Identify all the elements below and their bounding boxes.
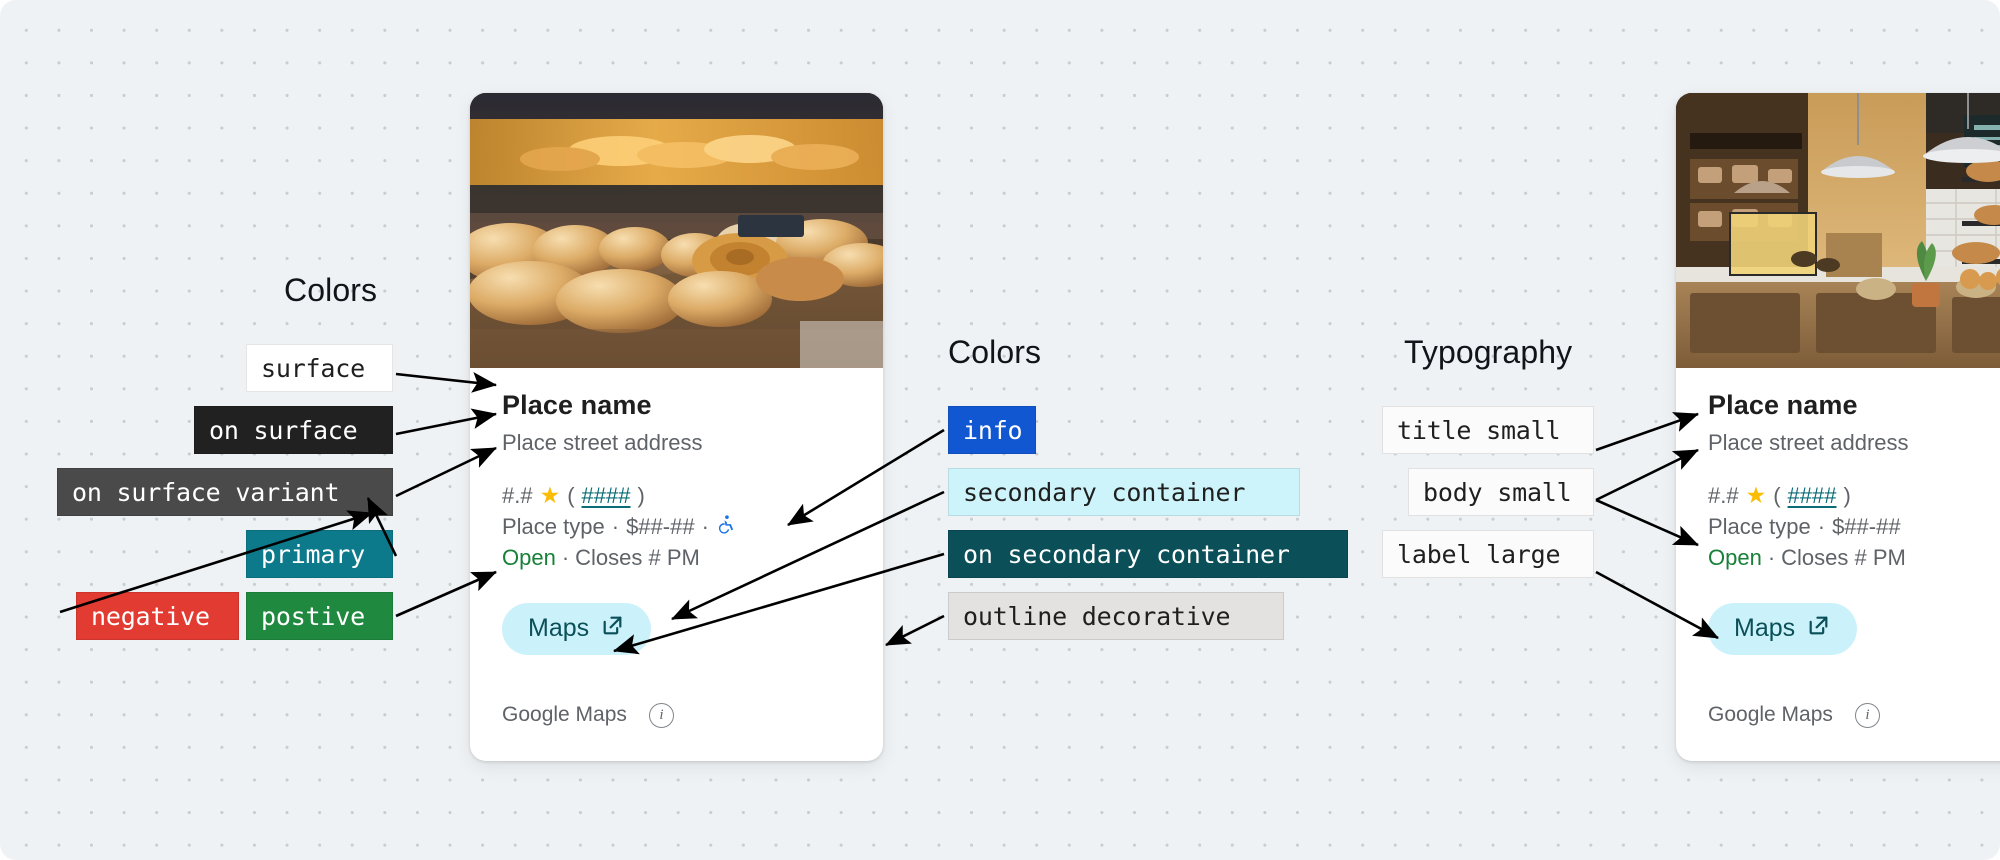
type-price-row-right: Place type · $##-##	[1708, 514, 2000, 540]
wheelchair-icon	[716, 514, 737, 539]
separator-dot-1-right: ·	[1818, 514, 1825, 540]
swatch-title-small[interactable]: title small	[1382, 406, 1594, 454]
hours-separator-right: ·	[1768, 545, 1775, 570]
paren-close-right: )	[1844, 483, 1851, 509]
closing-time: Closes # PM	[575, 545, 700, 570]
swatch-label-large[interactable]: label large	[1382, 530, 1594, 578]
open-in-new-glyph-right	[1806, 613, 1831, 638]
review-count-link-right[interactable]: ####	[1788, 483, 1837, 509]
swatch-outline-decorative-label: outline decorative	[963, 602, 1230, 631]
place-card-center-body: Place name Place street address #.# ★ (#…	[470, 390, 883, 728]
swatch-label-large-label: label large	[1397, 540, 1560, 569]
swatch-postive-label: postive	[261, 602, 365, 631]
arrow-outline-decorative-to-card-edge	[886, 616, 944, 645]
open-in-new-icon	[600, 613, 625, 645]
swatch-on-secondary-container[interactable]: on secondary container	[948, 530, 1348, 578]
swatch-primary[interactable]: primary	[246, 530, 393, 578]
colors-left-group-title: Colors	[284, 272, 377, 309]
swatch-outline-decorative[interactable]: outline decorative	[948, 592, 1284, 640]
hours-separator: ·	[562, 545, 569, 570]
swatch-on-surface[interactable]: on surface	[194, 406, 393, 454]
place-type: Place type	[502, 514, 605, 540]
place-type-right: Place type	[1708, 514, 1811, 540]
place-name-right: Place name	[1708, 390, 2000, 422]
rating-value-right: #.#	[1708, 483, 1739, 509]
paren-open-right: (	[1773, 483, 1780, 509]
swatch-on-secondary-container-label: on secondary container	[963, 540, 1290, 569]
open-status: Open	[502, 545, 556, 570]
open-in-new-icon-right	[1806, 613, 1831, 645]
maps-button-label-right: Maps	[1734, 614, 1795, 643]
swatch-on-surface-variant[interactable]: on surface variant	[57, 468, 393, 516]
attribution-label: Google Maps	[502, 703, 627, 727]
swatch-on-surface-variant-label: on surface variant	[72, 478, 339, 507]
annotated-design-canvas: Colors surface on surface on surface var…	[0, 0, 2000, 860]
info-icon-right[interactable]: i	[1855, 703, 1880, 728]
swatch-postive[interactable]: postive	[246, 592, 393, 640]
open-in-new-glyph	[600, 613, 625, 638]
place-address-right: Place street address	[1708, 428, 2000, 458]
paren-open: (	[567, 483, 574, 509]
hours-row: Open·Closes # PM	[502, 545, 851, 571]
rating-value: #.#	[502, 483, 533, 509]
place-card-right-body: Place name Place street address #.# ★ (#…	[1676, 390, 2000, 728]
cafe-photo-illustration	[1676, 93, 2000, 368]
swatch-info-label: info	[963, 416, 1022, 445]
review-count-link[interactable]: ####	[582, 483, 631, 509]
hours-row-right: Open·Closes # PM	[1708, 545, 2000, 571]
rating-row-right: #.# ★ (####)	[1708, 483, 2000, 509]
place-card-right: Place name Place street address #.# ★ (#…	[1676, 93, 2000, 761]
swatch-title-small-label: title small	[1397, 416, 1560, 445]
swatch-body-small[interactable]: body small	[1408, 468, 1594, 516]
maps-button-label: Maps	[528, 614, 589, 643]
swatch-on-surface-label: on surface	[209, 416, 358, 445]
wheelchair-glyph	[716, 514, 737, 535]
star-icon-right: ★	[1746, 484, 1767, 507]
card-footer-right: Google Maps i	[1708, 703, 2000, 728]
maps-button-right[interactable]: Maps	[1708, 603, 1857, 655]
swatch-body-small-label: body small	[1423, 478, 1572, 507]
separator-dot-2: ·	[702, 514, 709, 540]
place-card-center: Place name Place street address #.# ★ (#…	[470, 93, 883, 761]
info-icon[interactable]: i	[649, 703, 674, 728]
swatch-negative[interactable]: negative	[76, 592, 239, 640]
closing-time-right: Closes # PM	[1781, 545, 1906, 570]
swatch-info[interactable]: info	[948, 406, 1036, 454]
attribution-label-right: Google Maps	[1708, 703, 1833, 727]
swatch-negative-label: negative	[91, 602, 210, 631]
place-name: Place name	[502, 390, 851, 422]
price-range: $##-##	[626, 514, 695, 540]
place-photo-bakery	[470, 93, 883, 368]
paren-close: )	[638, 483, 645, 509]
place-address: Place street address	[502, 428, 851, 458]
maps-button[interactable]: Maps	[502, 603, 651, 655]
bakery-photo-illustration	[470, 93, 883, 368]
rating-row: #.# ★ (####)	[502, 483, 851, 509]
open-status-right: Open	[1708, 545, 1762, 570]
colors-mid-group-title: Colors	[948, 334, 1041, 371]
place-photo-cafe	[1676, 93, 2000, 368]
swatch-primary-label: primary	[261, 540, 365, 569]
separator-dot-1: ·	[612, 514, 619, 540]
swatch-surface-label: surface	[261, 354, 365, 383]
price-range-right: $##-##	[1832, 514, 1901, 540]
swatch-surface[interactable]: surface	[246, 344, 393, 392]
type-price-row: Place type · $##-## ·	[502, 514, 851, 540]
swatch-secondary-container-label: secondary container	[963, 478, 1245, 507]
typography-group-title: Typography	[1404, 334, 1572, 371]
star-icon: ★	[540, 484, 561, 507]
card-footer: Google Maps i	[502, 703, 851, 728]
swatch-secondary-container[interactable]: secondary container	[948, 468, 1300, 516]
